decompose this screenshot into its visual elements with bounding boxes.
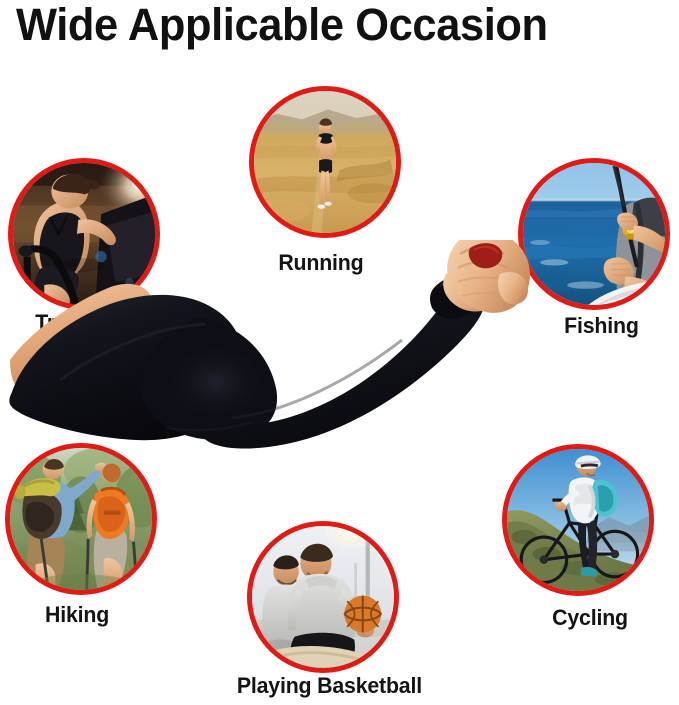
cycling-label: Cycling — [552, 605, 628, 631]
basketball-scene-illustration — [252, 526, 394, 668]
basketball-photo-circle — [247, 521, 399, 673]
arm-sleeve-illustration — [0, 240, 679, 480]
product-arm-sleeve — [0, 240, 679, 480]
infographic-canvas: Wide Applicable Occasion — [0, 0, 679, 705]
page-title: Wide Applicable Occasion — [16, 0, 643, 52]
running-photo-circle — [249, 86, 401, 238]
basketball-label: Playing Basketball — [237, 673, 422, 699]
hiking-label: Hiking — [45, 602, 109, 628]
running-scene-illustration — [254, 91, 396, 233]
